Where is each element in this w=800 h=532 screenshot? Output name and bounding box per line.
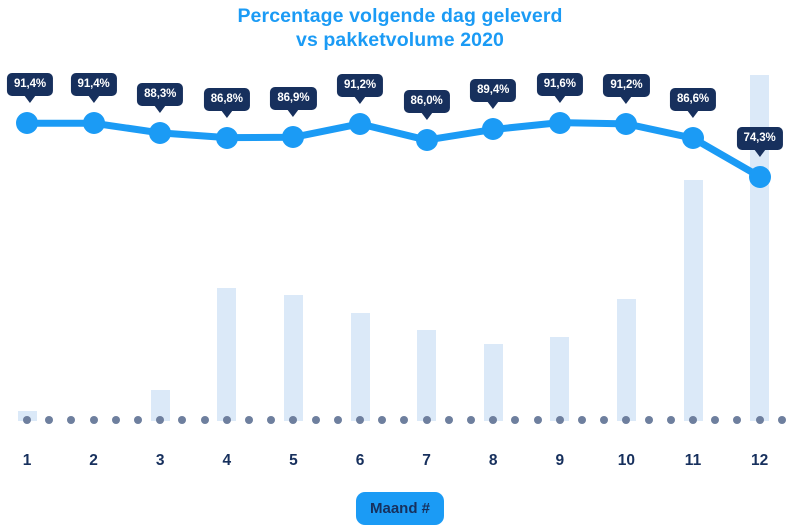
data-label-tooltip: 86,8%	[204, 88, 250, 111]
data-label-tooltip: 91,4%	[71, 73, 117, 96]
line-marker[interactable]	[482, 118, 504, 140]
x-axis-title-button[interactable]: Maand #	[356, 492, 444, 525]
line-marker[interactable]	[349, 113, 371, 135]
chart-screenshot: Percentage volgende dag geleverd vs pakk…	[0, 0, 800, 532]
x-axis-tick-label: 8	[489, 452, 498, 470]
data-label-tooltip: 74,3%	[737, 127, 783, 150]
data-label-tooltip: 91,2%	[603, 74, 649, 97]
line-marker[interactable]	[749, 166, 771, 188]
line-marker[interactable]	[16, 112, 38, 134]
data-label-tooltip: 86,0%	[404, 90, 450, 113]
line-marker[interactable]	[682, 127, 704, 149]
data-label-tooltip: 86,9%	[270, 87, 316, 110]
data-label-tooltip: 91,2%	[337, 74, 383, 97]
line-marker[interactable]	[615, 113, 637, 135]
data-label-tooltip: 91,4%	[7, 73, 53, 96]
data-label-tooltip: 89,4%	[470, 79, 516, 102]
data-label-tooltip: 88,3%	[137, 83, 183, 106]
line-marker[interactable]	[549, 112, 571, 134]
line-marker[interactable]	[216, 127, 238, 149]
x-axis-tick-label: 7	[422, 452, 431, 470]
data-label-tooltip: 91,6%	[537, 73, 583, 96]
line-marker[interactable]	[416, 129, 438, 151]
x-axis-tick-label: 4	[222, 452, 231, 470]
x-axis-tick-label: 11	[685, 452, 701, 470]
line-marker[interactable]	[282, 126, 304, 148]
line-series	[0, 0, 800, 440]
x-axis-tick-label: 2	[89, 452, 98, 470]
x-axis-tick-labels: 123456789101112	[0, 452, 800, 478]
line-marker[interactable]	[149, 122, 171, 144]
x-axis-tick-label: 5	[289, 452, 298, 470]
data-label-tooltip: 86,6%	[670, 88, 716, 111]
x-axis-tick-label: 6	[356, 452, 365, 470]
x-axis-tick-label: 3	[156, 452, 165, 470]
x-axis-tick-label: 12	[751, 452, 768, 470]
x-axis-tick-label: 10	[618, 452, 635, 470]
plot-area: 91,4%91,4%88,3%86,8%86,9%91,2%86,0%89,4%…	[0, 0, 800, 440]
x-axis-tick-label: 9	[555, 452, 564, 470]
x-axis-tick-label: 1	[23, 452, 32, 470]
line-path	[27, 123, 760, 177]
line-marker[interactable]	[83, 112, 105, 134]
